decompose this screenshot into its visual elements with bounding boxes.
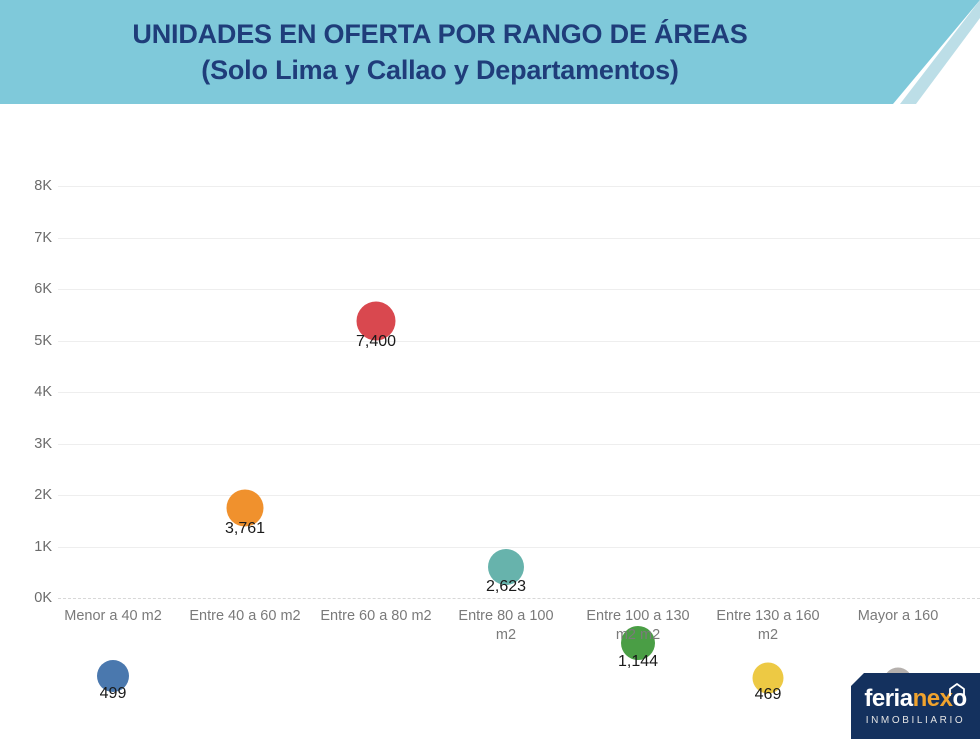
- gridline: [58, 598, 980, 599]
- y-axis-tick-label: 4K: [6, 385, 52, 399]
- gridline: [58, 444, 980, 445]
- gridline: [58, 289, 980, 290]
- plot-surface: [58, 186, 980, 598]
- data-point-value-label: 7,400: [356, 334, 396, 350]
- gridline: [58, 392, 980, 393]
- header-banner: UNIDADES EN OFERTA POR RANGO DE ÁREAS (S…: [0, 0, 980, 104]
- data-point-value-label: 2,623: [486, 579, 526, 595]
- title-line-1: UNIDADES EN OFERTA POR RANGO DE ÁREAS: [132, 16, 747, 52]
- chart-area: 8K7K6K5K4K3K2K1K0K 4993,7617,4002,6231,1…: [0, 104, 980, 679]
- company-logo: ferianexo INMOBILIARIO: [851, 673, 980, 739]
- gridline: [58, 547, 980, 548]
- data-point-value-label: 469: [755, 687, 782, 703]
- y-axis-tick-label: 8K: [6, 179, 52, 193]
- x-axis-category-label: Entre 130 a 160 m2: [698, 607, 838, 645]
- page-title: UNIDADES EN OFERTA POR RANGO DE ÁREAS (S…: [0, 0, 880, 104]
- y-axis-tick-label: 7K: [6, 231, 52, 245]
- x-axis-category-label: Entre 100 a 130 m2 m2: [568, 607, 708, 645]
- y-axis-tick-label: 3K: [6, 437, 52, 451]
- y-axis-tick-label: 5K: [6, 334, 52, 348]
- gridline: [58, 186, 980, 187]
- y-axis-tick-label: 1K: [6, 540, 52, 554]
- x-axis-category-label: Entre 40 a 60 m2: [175, 607, 315, 626]
- logo-text-feria: feria: [864, 685, 912, 712]
- house-icon: [948, 683, 966, 697]
- x-axis-category-label: Entre 80 a 100 m2: [436, 607, 576, 645]
- logo-subtitle: INMOBILIARIO: [851, 715, 980, 727]
- gridline: [58, 341, 980, 342]
- data-point-value-label: 499: [100, 686, 127, 702]
- logo-text-nex: nex: [913, 685, 953, 712]
- x-axis-category-label: Entre 60 a 80 m2: [306, 607, 446, 626]
- y-axis: 8K7K6K5K4K3K2K1K0K: [0, 186, 52, 598]
- data-point-value-label: 1,144: [618, 654, 658, 670]
- x-axis-category-label: Menor a 40 m2: [43, 607, 183, 626]
- y-axis-tick-label: 0K: [6, 591, 52, 605]
- y-axis-tick-label: 2K: [6, 488, 52, 502]
- y-axis-tick-label: 6K: [6, 282, 52, 296]
- data-point-value-label: 3,761: [225, 521, 265, 537]
- x-axis-category-label: Mayor a 160: [828, 607, 968, 626]
- gridline: [58, 238, 980, 239]
- logo-corner-notch: [851, 673, 864, 686]
- gridline: [58, 495, 980, 496]
- title-line-2: (Solo Lima y Callao y Departamentos): [201, 52, 678, 88]
